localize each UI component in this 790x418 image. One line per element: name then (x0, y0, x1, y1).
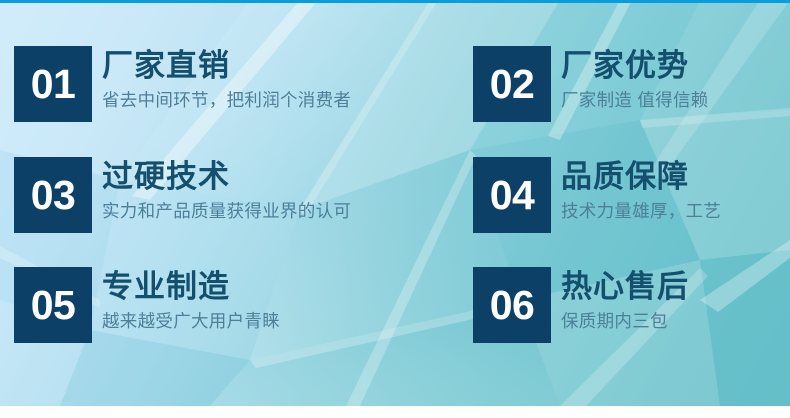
feature-text-column: 专业制造 越来越受广大用户青睐 (102, 267, 280, 332)
feature-item-03: 03 过硬技术 实力和产品质量获得业界的认可 (14, 157, 351, 233)
feature-number-badge: 06 (473, 267, 551, 343)
top-accent-rule (0, 0, 790, 3)
feature-grid: 01 厂家直销 省去中间环节，把利润个消费者 02 厂家优势 厂家制造 值得信赖… (0, 0, 790, 406)
feature-subtitle: 越来越受广大用户青睐 (102, 311, 280, 332)
feature-title: 热心售后 (561, 269, 689, 305)
feature-item-04: 04 品质保障 技术力量雄厚，工艺 (473, 157, 721, 233)
feature-item-02: 02 厂家优势 厂家制造 值得信赖 (473, 46, 709, 122)
feature-number-badge: 04 (473, 157, 551, 233)
feature-subtitle: 技术力量雄厚，工艺 (561, 201, 721, 222)
feature-title: 过硬技术 (102, 159, 351, 195)
feature-text-column: 厂家直销 省去中间环节，把利润个消费者 (102, 46, 351, 111)
feature-title: 专业制造 (102, 269, 280, 305)
feature-number-badge: 02 (473, 46, 551, 122)
feature-number-badge: 05 (14, 267, 92, 343)
feature-subtitle: 厂家制造 值得信赖 (561, 90, 709, 111)
promo-banner: 01 厂家直销 省去中间环节，把利润个消费者 02 厂家优势 厂家制造 值得信赖… (0, 0, 790, 418)
feature-text-column: 过硬技术 实力和产品质量获得业界的认可 (102, 157, 351, 222)
feature-title: 厂家直销 (102, 48, 351, 84)
feature-text-column: 品质保障 技术力量雄厚，工艺 (561, 157, 721, 222)
feature-item-01: 01 厂家直销 省去中间环节，把利润个消费者 (14, 46, 351, 122)
feature-text-column: 热心售后 保质期内三包 (561, 267, 689, 332)
feature-number-badge: 01 (14, 46, 92, 122)
feature-title: 品质保障 (561, 159, 721, 195)
feature-number-badge: 03 (14, 157, 92, 233)
feature-item-05: 05 专业制造 越来越受广大用户青睐 (14, 267, 280, 343)
feature-text-column: 厂家优势 厂家制造 值得信赖 (561, 46, 709, 111)
feature-subtitle: 实力和产品质量获得业界的认可 (102, 201, 351, 222)
feature-item-06: 06 热心售后 保质期内三包 (473, 267, 689, 343)
bottom-white-strip (0, 406, 790, 418)
feature-title: 厂家优势 (561, 48, 709, 84)
feature-subtitle: 省去中间环节，把利润个消费者 (102, 90, 351, 111)
feature-subtitle: 保质期内三包 (561, 311, 689, 332)
